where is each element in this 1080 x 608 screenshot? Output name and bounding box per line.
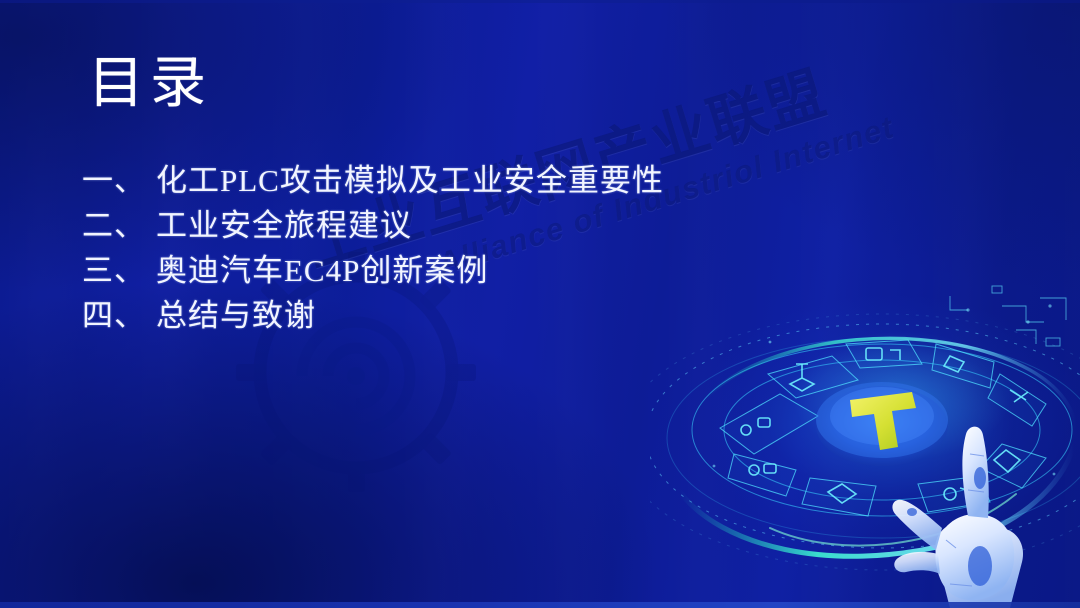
toc-index-1: 一、	[82, 158, 156, 203]
page-title: 目录	[88, 56, 212, 112]
presentation-slide: 工业互联网产业联盟 Alliance of Industriol Interne…	[0, 0, 1080, 608]
toc-label-4: 总结与致谢	[156, 293, 316, 338]
table-of-contents: 一、 化工PLC攻击模拟及工业安全重要性 二、 工业安全旅程建议 三、 奥迪汽车…	[82, 158, 802, 338]
toc-item-4[interactable]: 四、 总结与致谢	[82, 293, 802, 338]
toc-item-3[interactable]: 三、 奥迪汽车EC4P创新案例	[82, 248, 802, 293]
toc-index-2: 二、	[82, 203, 156, 248]
toc-label-3: 奥迪汽车EC4P创新案例	[156, 248, 488, 293]
toc-item-2[interactable]: 二、 工业安全旅程建议	[82, 203, 802, 248]
toc-item-1[interactable]: 一、 化工PLC攻击模拟及工业安全重要性	[82, 158, 802, 203]
toc-label-2: 工业安全旅程建议	[156, 203, 412, 248]
toc-label-1: 化工PLC攻击模拟及工业安全重要性	[156, 158, 664, 203]
toc-index-3: 三、	[82, 248, 156, 293]
bottom-edge-strip	[0, 602, 1080, 608]
toc-index-4: 四、	[82, 293, 156, 338]
top-edge-strip	[0, 0, 1080, 3]
